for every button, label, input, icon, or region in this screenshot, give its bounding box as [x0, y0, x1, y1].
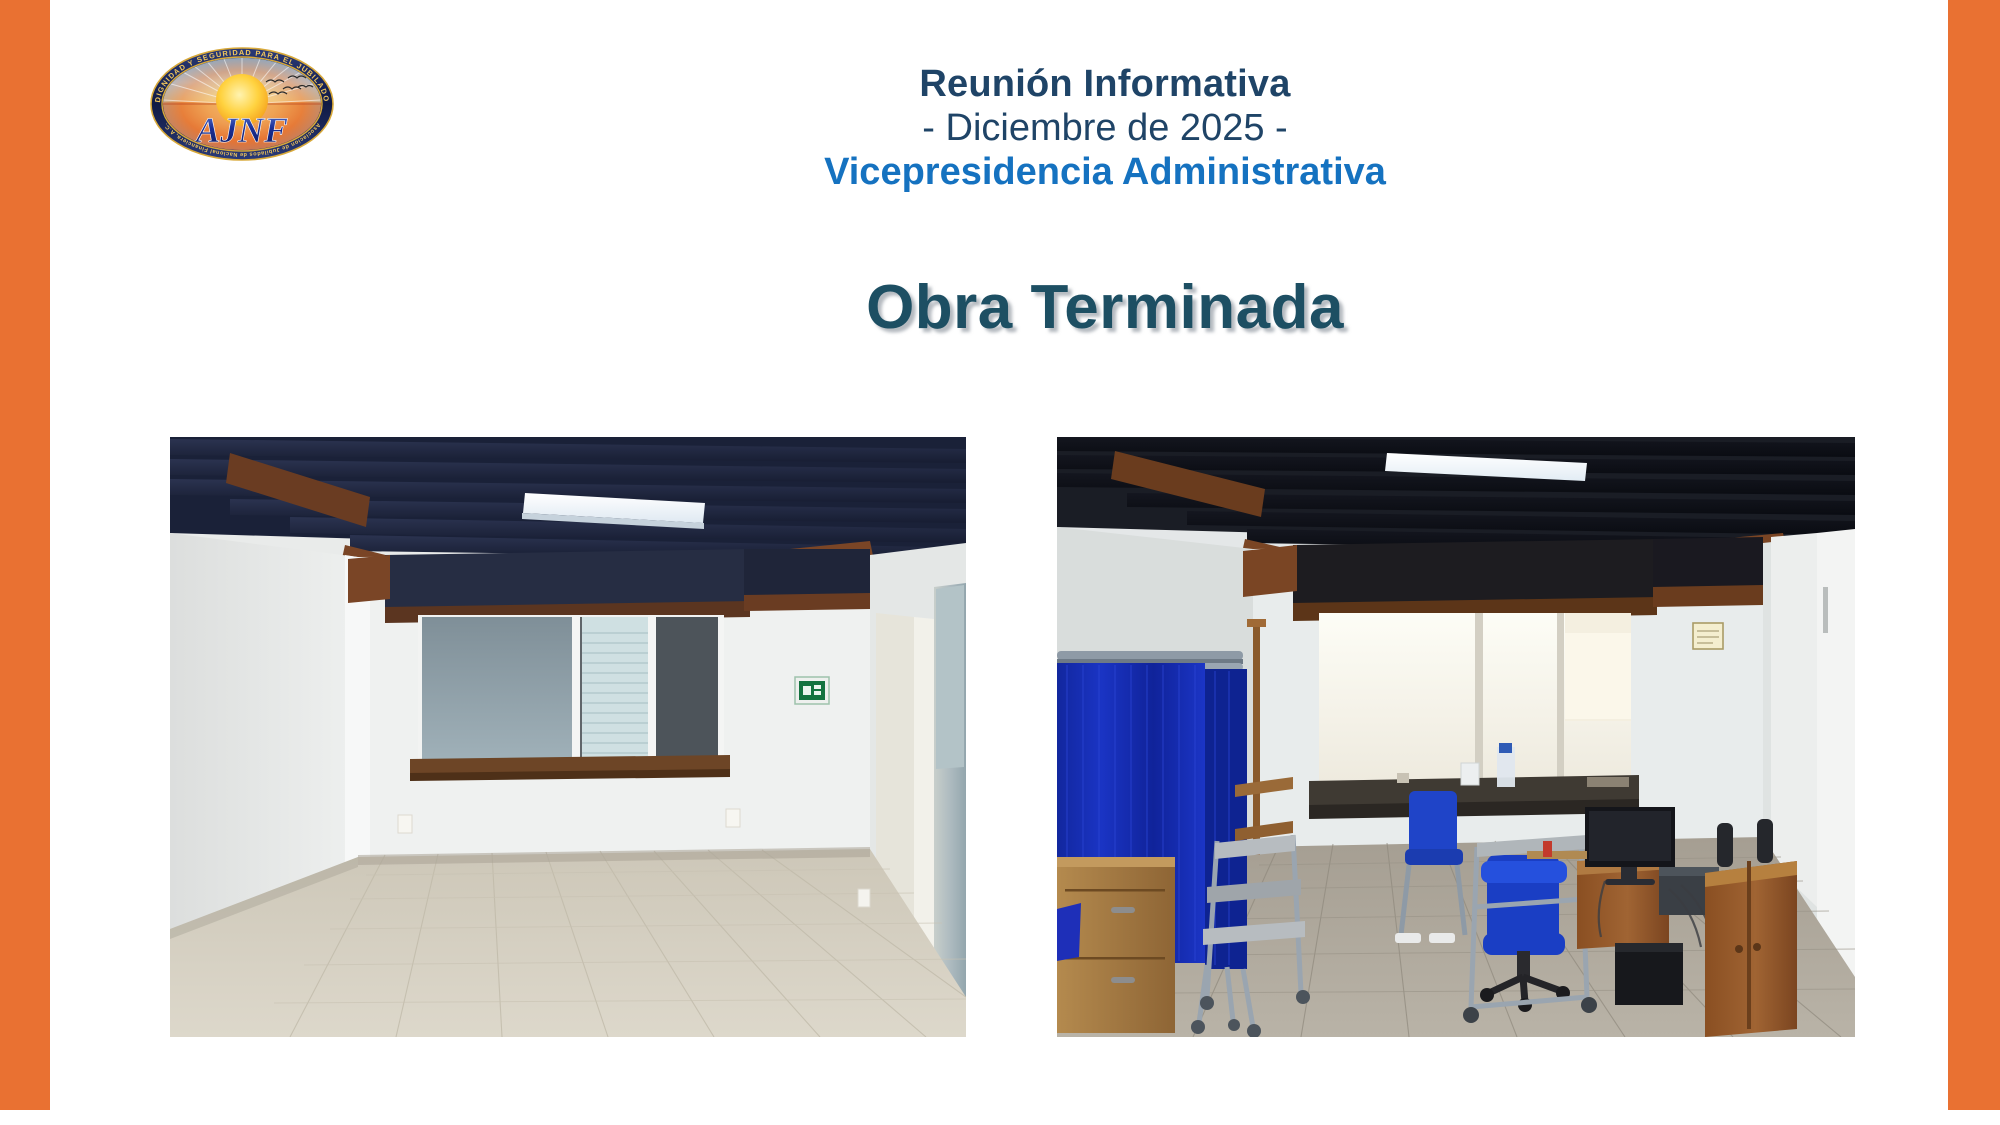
logo-acronym: AJNF — [194, 110, 288, 150]
page-title: Obra Terminada — [440, 272, 1770, 343]
ajnf-logo: AJNF DIGNIDAD Y SEGURIDAD PARA EL JUBILA… — [138, 42, 346, 167]
header-line-department: Vicepresidencia Administrativa — [440, 150, 1770, 194]
header-line-meeting: Reunión Informativa — [440, 62, 1770, 106]
accent-bar-left — [0, 0, 50, 1110]
photo-empty-room — [170, 437, 966, 1037]
header-line-date: - Diciembre de 2025 - — [440, 106, 1770, 150]
slide: AJNF DIGNIDAD Y SEGURIDAD PARA EL JUBILA… — [0, 0, 2000, 1125]
accent-bar-right — [1948, 0, 2000, 1110]
header-block: Reunión Informativa - Diciembre de 2025 … — [440, 62, 1770, 194]
photo-furnished-room — [1057, 437, 1855, 1037]
